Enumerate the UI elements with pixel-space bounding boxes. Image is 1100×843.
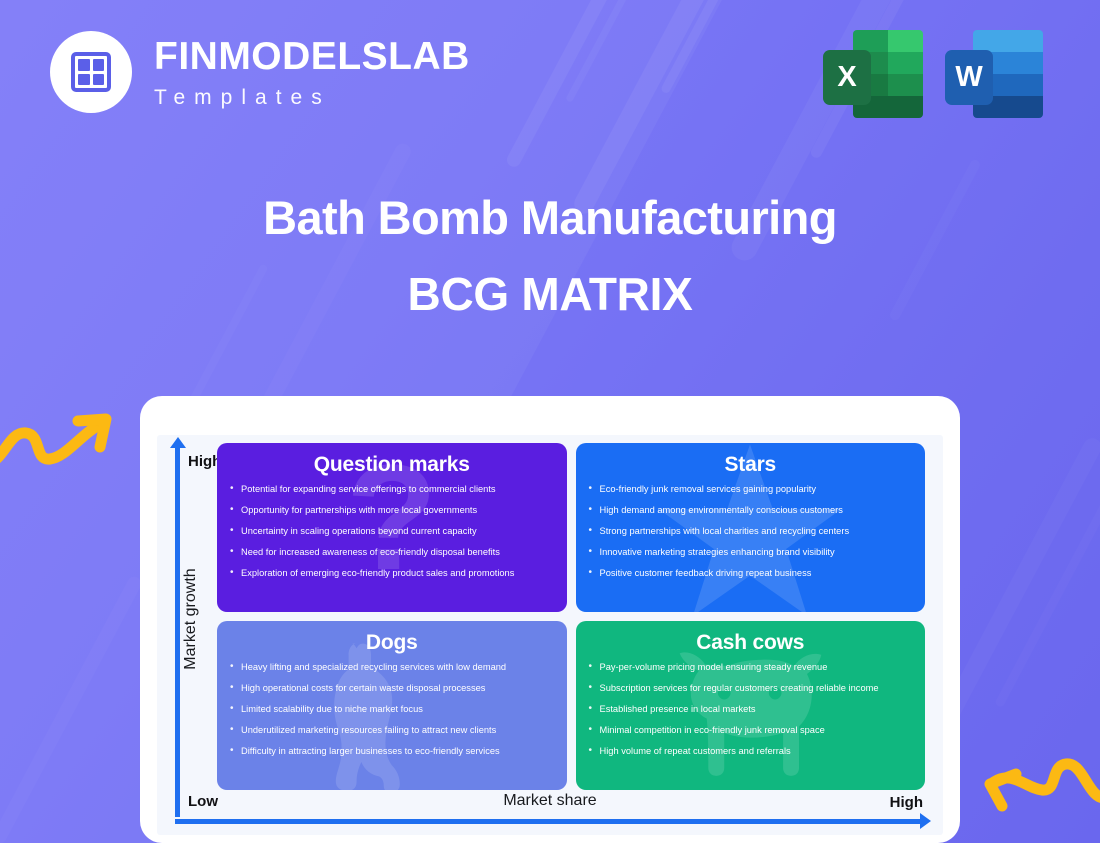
list-item: Minimal competition in eco-friendly junk… <box>588 725 914 737</box>
quadrant-title: Cash cows <box>588 631 914 655</box>
list-item: High volume of repeat customers and refe… <box>588 746 914 758</box>
x-axis-arrowhead-icon <box>920 813 931 829</box>
list-item: Positive customer feedback driving repea… <box>588 568 914 580</box>
excel-icon: X <box>823 30 923 120</box>
bcg-matrix: High Low Market growth Market share High… <box>157 435 943 835</box>
squiggly-arrow-up-right-icon <box>0 405 124 475</box>
quadrant-question-marks[interactable]: ? Question marks Potential for expanding… <box>217 443 567 612</box>
quadrant-grid: ? Question marks Potential for expanding… <box>217 443 925 790</box>
page-title: Bath Bomb Manufacturing <box>0 192 1100 244</box>
quadrant-item-list: Pay-per-volume pricing model ensuring st… <box>588 662 914 758</box>
list-item: Limited scalability due to niche market … <box>229 704 555 716</box>
quadrant-dogs[interactable]: Dogs Heavy lifting and specialized recyc… <box>217 621 567 790</box>
list-item: Underutilized marketing resources failin… <box>229 725 555 737</box>
file-format-icons: X W <box>823 30 1045 120</box>
y-axis-line <box>175 445 180 817</box>
list-item: Uncertainty in scaling operations beyond… <box>229 526 555 538</box>
word-icon: W <box>945 30 1045 120</box>
brand-name: FINMODELSLAB <box>154 37 470 76</box>
y-axis-arrowhead-icon <box>170 437 186 448</box>
list-item: Difficulty in attracting larger business… <box>229 746 555 758</box>
squiggly-arrow-down-left-icon <box>972 740 1100 812</box>
list-item: Innovative marketing strategies enhancin… <box>588 547 914 559</box>
list-item: Eco-friendly junk removal services gaini… <box>588 484 914 496</box>
quadrant-item-list: Heavy lifting and specialized recycling … <box>229 662 555 758</box>
x-axis-title: Market share <box>157 792 943 810</box>
brand-logo: FINMODELSLAB Templates <box>50 31 470 113</box>
x-axis-high-label: High <box>890 794 923 811</box>
y-axis-title: Market growth <box>182 549 200 689</box>
quadrant-title: Question marks <box>229 453 555 477</box>
quadrant-title: Stars <box>588 453 914 477</box>
list-item: Heavy lifting and specialized recycling … <box>229 662 555 674</box>
brand-subtitle: Templates <box>154 87 470 108</box>
grid-window-icon <box>50 31 132 113</box>
list-item: Established presence in local markets <box>588 704 914 716</box>
quadrant-item-list: Eco-friendly junk removal services gaini… <box>588 484 914 580</box>
quadrant-stars[interactable]: Stars Eco-friendly junk removal services… <box>576 443 926 612</box>
x-axis-line <box>175 819 923 824</box>
list-item: Subscription services for regular custom… <box>588 683 914 695</box>
word-icon-letter: W <box>945 50 993 105</box>
list-item: Strong partnerships with local charities… <box>588 526 914 538</box>
page-header: FINMODELSLAB Templates X W <box>0 0 1100 150</box>
excel-icon-letter: X <box>823 50 871 105</box>
page-title-block: Bath Bomb Manufacturing BCG MATRIX <box>0 192 1100 319</box>
page-subtitle: BCG MATRIX <box>0 269 1100 320</box>
quadrant-cash-cows[interactable]: Cash cows Pay-per-volume pricing model e… <box>576 621 926 790</box>
bcg-matrix-card: High Low Market growth Market share High… <box>140 396 960 843</box>
quadrant-item-list: Potential for expanding service offering… <box>229 484 555 580</box>
list-item: Exploration of emerging eco-friendly pro… <box>229 568 555 580</box>
list-item: Pay-per-volume pricing model ensuring st… <box>588 662 914 674</box>
list-item: Need for increased awareness of eco-frie… <box>229 547 555 559</box>
list-item: Opportunity for partnerships with more l… <box>229 505 555 517</box>
list-item: High demand among environmentally consci… <box>588 505 914 517</box>
list-item: High operational costs for certain waste… <box>229 683 555 695</box>
list-item: Potential for expanding service offering… <box>229 484 555 496</box>
quadrant-title: Dogs <box>229 631 555 655</box>
